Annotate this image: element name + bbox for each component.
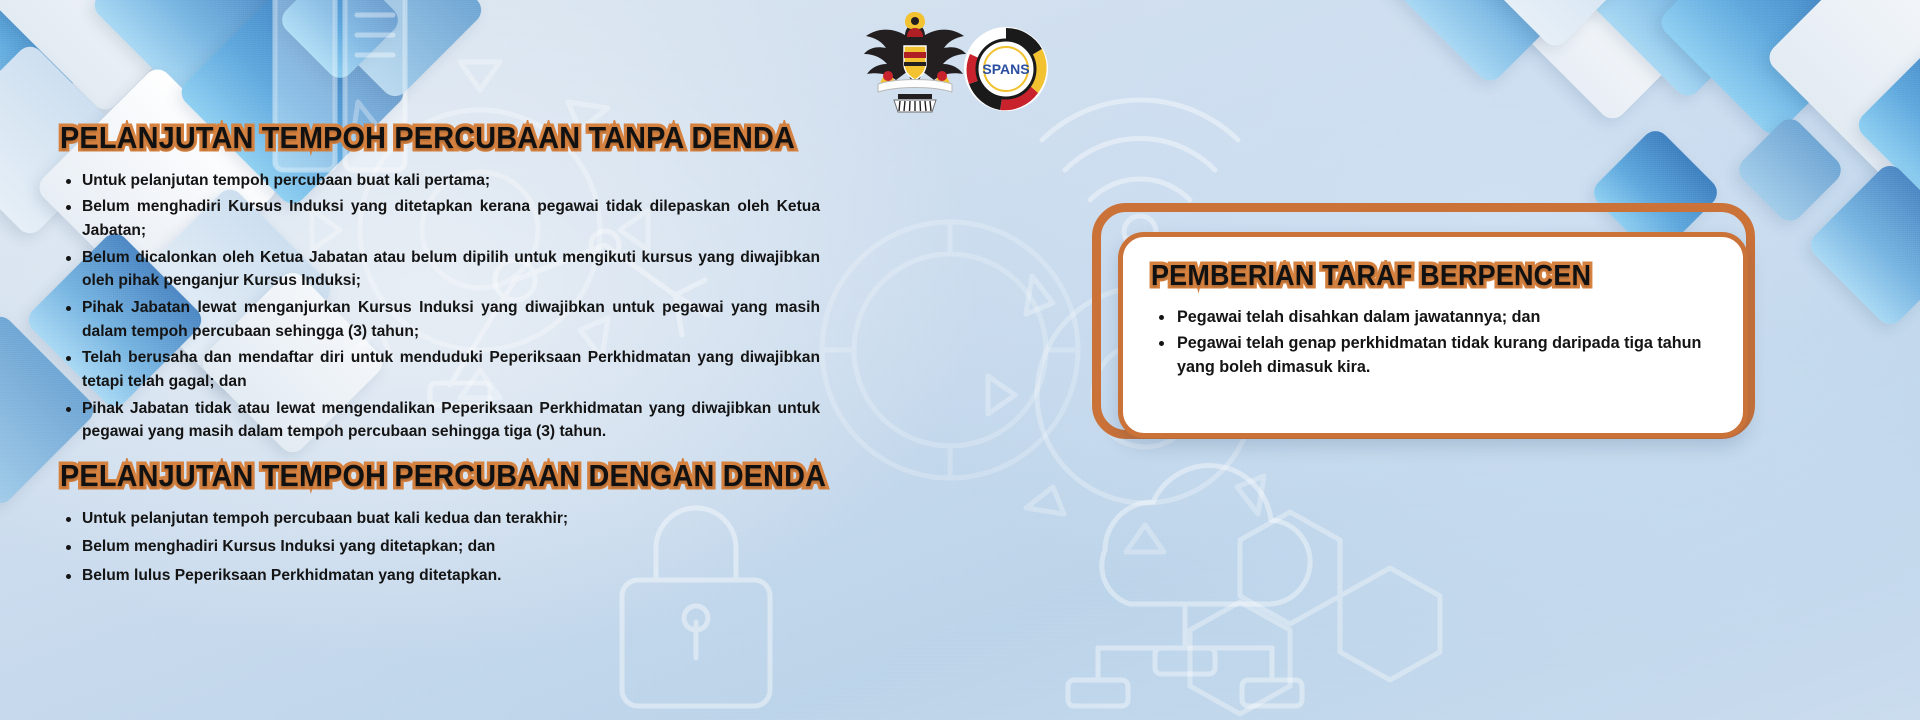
card-heading-wrap: PEMBERIAN TARAF BERPENCEN [1151, 259, 1715, 293]
spans-logo: SURUHANJAYA PERKHIDMATAN AWAM NEGERI SAR… [963, 26, 1049, 112]
card-bullet-list: Pegawai telah disahkan dalam jawatannya;… [1151, 305, 1715, 380]
section-2-heading-wrap: PELANJUTAN TEMPOH PERCUBAAN DENGAN DENDA [60, 458, 820, 495]
left-content-column: PELANJUTAN TEMPOH PERCUBAAN TANPA DENDA … [60, 120, 820, 593]
spans-wordmark: SPANS [982, 61, 1029, 77]
sarawak-state-crest [860, 6, 970, 114]
logo-group: SURUHANJAYA PERKHIDMATAN AWAM NEGERI SAR… [845, 0, 1085, 120]
section-2-bullet-list: Untuk pelanjutan tempoh percubaan buat k… [60, 507, 820, 588]
list-item: Pihak Jabatan tidak atau lewat mengendal… [60, 397, 820, 444]
section-1-bullet-list: Untuk pelanjutan tempoh percubaan buat k… [60, 169, 820, 445]
section-2-block: PELANJUTAN TEMPOH PERCUBAAN DENGAN DENDA… [60, 458, 820, 588]
list-item: Belum menghadiri Kursus Induksi yang dit… [60, 535, 820, 559]
list-item: Belum menghadiri Kursus Induksi yang dit… [60, 195, 820, 242]
list-item: Belum lulus Peperiksaan Perkhidmatan yan… [60, 564, 820, 588]
section-1-heading: PELANJUTAN TEMPOH PERCUBAAN TANPA DENDA [60, 120, 795, 157]
list-item: Pegawai telah disahkan dalam jawatannya;… [1151, 305, 1715, 330]
card-heading: PEMBERIAN TARAF BERPENCEN [1151, 259, 1591, 293]
list-item: Untuk pelanjutan tempoh percubaan buat k… [60, 169, 820, 193]
list-item: Untuk pelanjutan tempoh percubaan buat k… [60, 507, 820, 531]
list-item: Pegawai telah genap perkhidmatan tidak k… [1151, 331, 1715, 380]
pemberian-taraf-berpencen-card: PEMBERIAN TARAF BERPENCEN Pegawai telah … [1118, 232, 1748, 438]
banner-stage: SURUHANJAYA PERKHIDMATAN AWAM NEGERI SAR… [0, 0, 1920, 720]
list-item: Telah berusaha dan mendaftar diri untuk … [60, 346, 820, 393]
list-item: Pihak Jabatan lewat menganjurkan Kursus … [60, 296, 820, 343]
section-2-heading: PELANJUTAN TEMPOH PERCUBAAN DENGAN DENDA [60, 458, 826, 495]
card-inner: PEMBERIAN TARAF BERPENCEN Pegawai telah … [1123, 237, 1743, 380]
list-item: Belum dicalonkan oleh Ketua Jabatan atau… [60, 246, 820, 293]
section-1-heading-wrap: PELANJUTAN TEMPOH PERCUBAAN TANPA DENDA [60, 120, 820, 157]
